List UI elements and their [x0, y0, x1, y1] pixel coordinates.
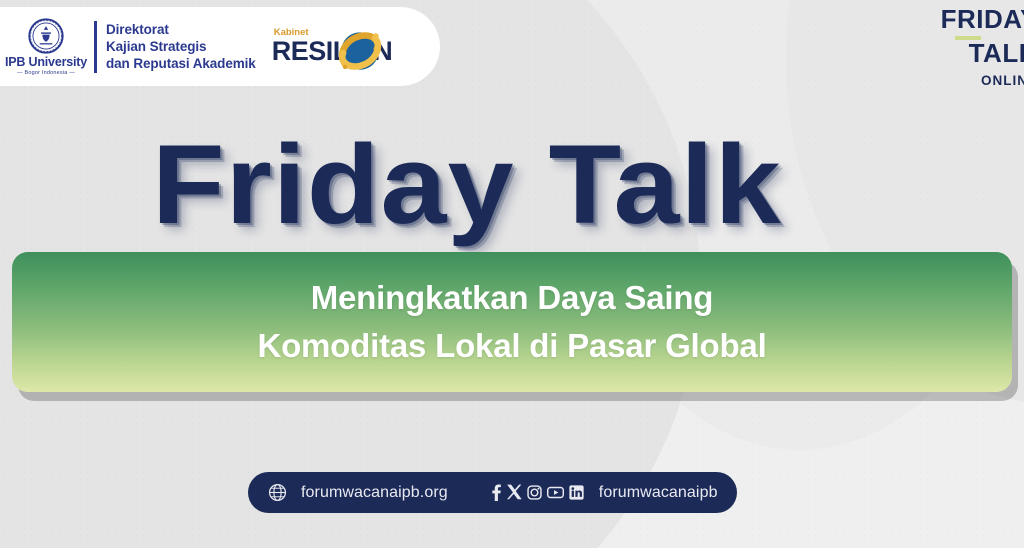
- youtube-icon[interactable]: [546, 483, 565, 502]
- directorate-name: Direktorat Kajian Strategis dan Reputasi…: [106, 21, 256, 73]
- page-title: Friday Talk: [152, 129, 873, 241]
- facebook-icon[interactable]: [488, 483, 503, 502]
- subtitle-line-2: Komoditas Lokal di Pasar Global: [257, 322, 766, 370]
- linkedin-icon[interactable]: [568, 483, 585, 502]
- globe-icon: [268, 483, 287, 502]
- header-divider: [94, 21, 97, 73]
- friday-talk-online-mark: FRIDAY TALK ONLINE: [941, 6, 1024, 88]
- website-url[interactable]: forumwacanaipb.org: [301, 484, 448, 502]
- directorate-line-2: Kajian Strategis: [106, 38, 256, 55]
- footer-contact-bar: forumwacanaipb.org: [248, 472, 737, 513]
- directorate-line-3: dan Reputasi Akademik: [106, 55, 256, 72]
- social-handle[interactable]: forumwacanaipb: [599, 484, 718, 502]
- subtitle-banner: Meningkatkan Daya Saing Komoditas Lokal …: [12, 252, 1012, 392]
- ipb-university-logo: IPB University — Bogor Indonesia —: [4, 18, 88, 76]
- header-logo-pill: IPB University — Bogor Indonesia — Direk…: [0, 7, 440, 86]
- social-icon-group: [488, 483, 585, 502]
- mark-accent-dash-top: [955, 36, 981, 40]
- subtitle-line-1: Meningkatkan Daya Saing: [311, 274, 714, 322]
- kabinet-resilien-logo: Kabinet RESILIEN: [272, 28, 393, 64]
- instagram-icon[interactable]: [526, 483, 543, 502]
- mark-line-online: ONLINE: [941, 74, 1024, 88]
- directorate-line-1: Direktorat: [106, 21, 256, 38]
- main-title-block: Friday Talk: [152, 129, 832, 249]
- resilien-emblem-icon: [332, 23, 388, 79]
- mark-line-talk: TALK: [941, 40, 1024, 66]
- x-twitter-icon[interactable]: [506, 483, 523, 502]
- ipb-wordmark: IPB University: [5, 56, 87, 69]
- mark-line-friday: FRIDAY: [941, 6, 1024, 32]
- ipb-seal-icon: [28, 18, 64, 54]
- poster-canvas: IPB University — Bogor Indonesia — Direk…: [0, 0, 1024, 548]
- ipb-tagline: — Bogor Indonesia —: [17, 70, 75, 76]
